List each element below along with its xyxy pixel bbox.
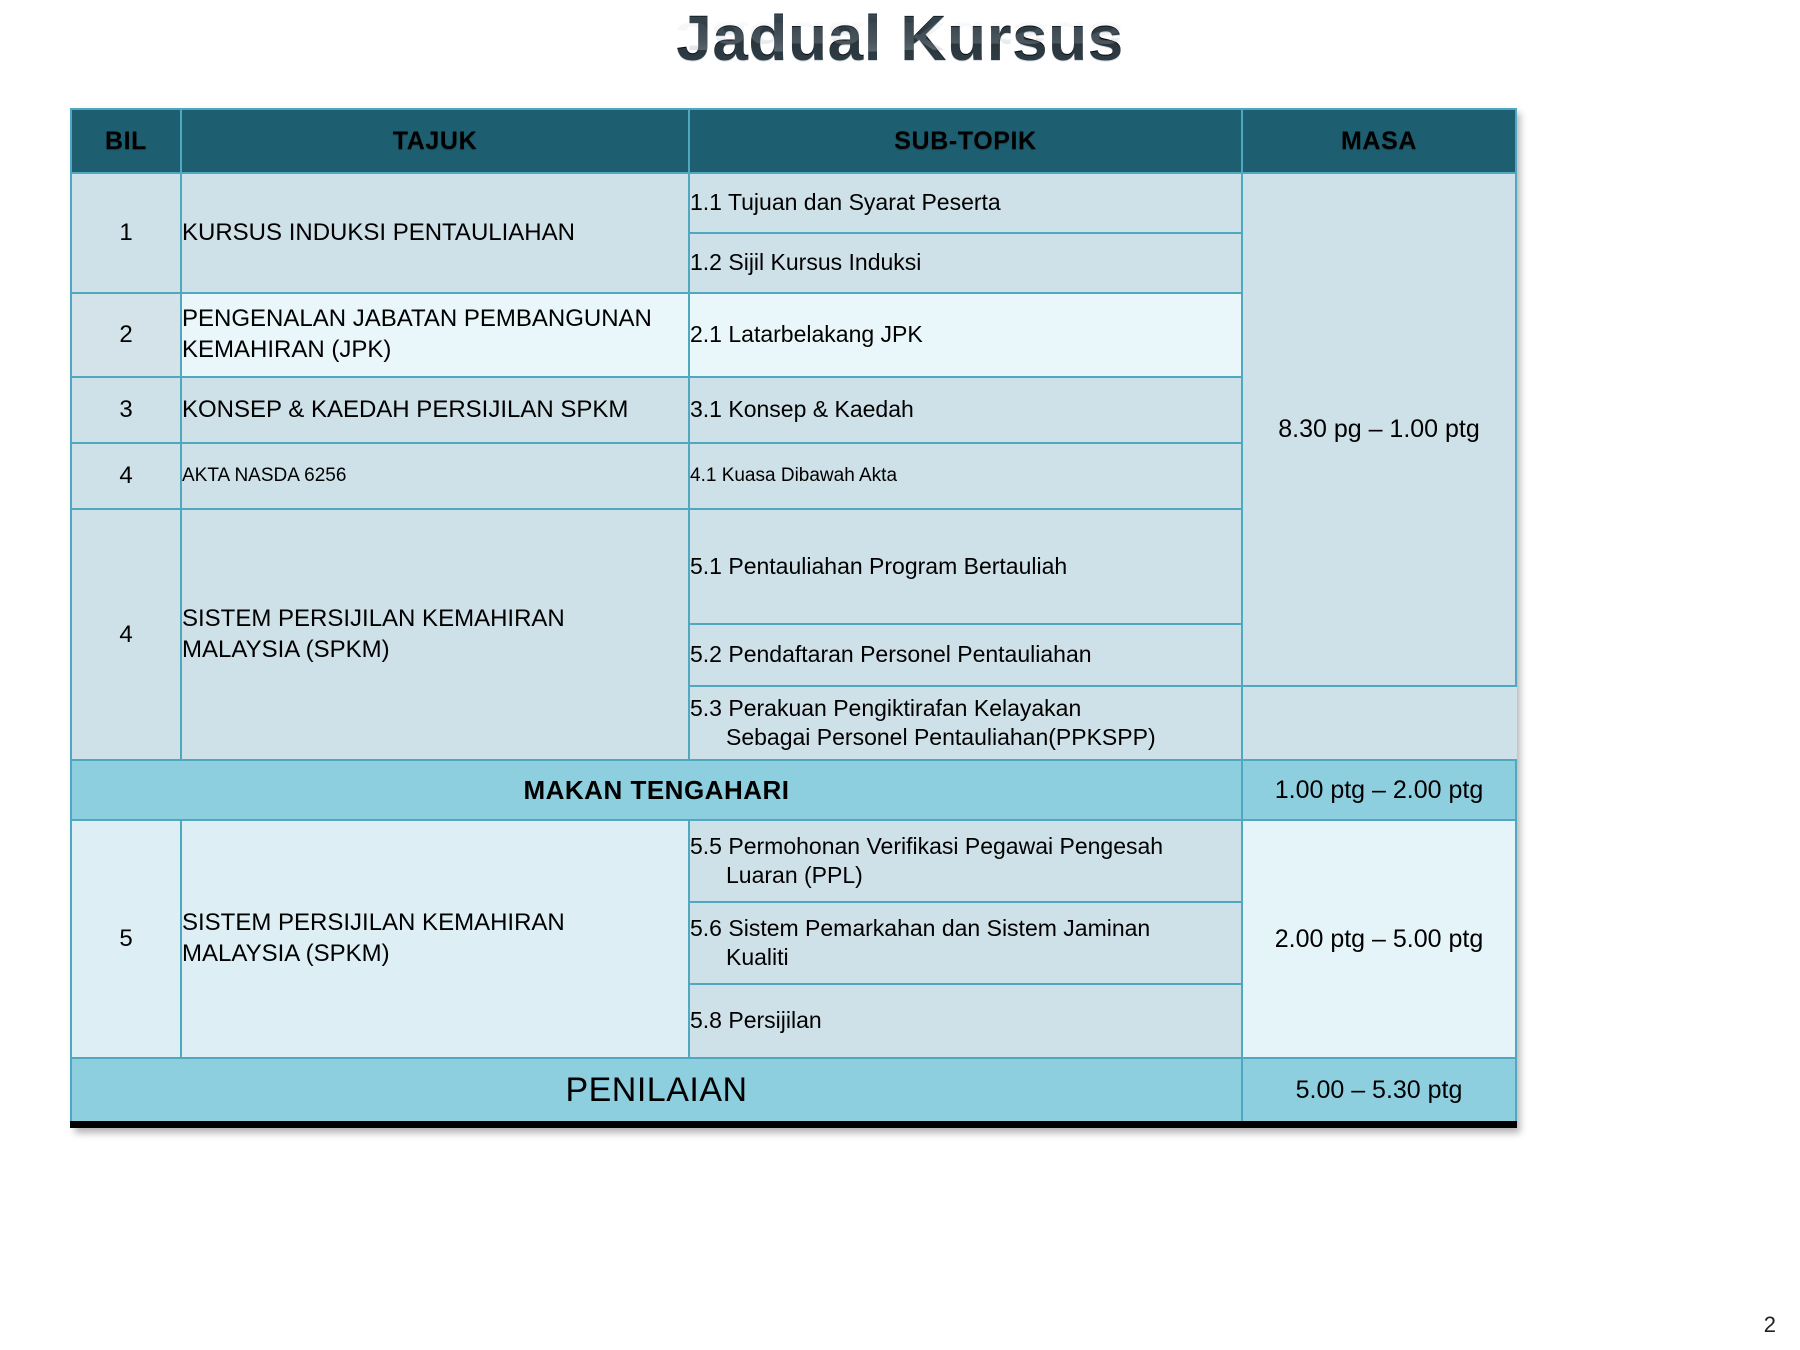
cell-tajuk-5: SISTEM PERSIJILAN KEMAHIRAN MALAYSIA (SP…: [181, 509, 689, 760]
cell-subtopic-5-3: 5.3 Perakuan Pengiktirafan Kelayakan Seb…: [689, 686, 1242, 760]
evaluation-time: 5.00 – 5.30 ptg: [1242, 1058, 1516, 1125]
cell-subtopic-2-1: 2.1 Latarbelakang JPK: [689, 293, 1242, 377]
page-number: 2: [1764, 1312, 1776, 1338]
subtopic-6-1-line-1: 5.5 Permohonan Verifikasi Pegawai Penges…: [690, 833, 1163, 859]
table-header: BIL TAJUK SUB-TOPIK MASA: [71, 109, 1516, 173]
table-row: 5 SISTEM PERSIJILAN KEMAHIRAN MALAYSIA (…: [71, 820, 1516, 902]
subtopic-6-2-line-1: 5.6 Sistem Pemarkahan dan Sistem Jaminan: [690, 915, 1150, 941]
cell-tajuk-4: AKTA NASDA 6256: [181, 443, 689, 509]
course-schedule-table: BIL TAJUK SUB-TOPIK MASA 1 KURSUS INDUKS…: [70, 108, 1517, 1128]
table-row: 1 KURSUS INDUKSI PENTAULIAHAN 1.1 Tujuan…: [71, 173, 1516, 233]
table-body: 1 KURSUS INDUKSI PENTAULIAHAN 1.1 Tujuan…: [71, 173, 1516, 1125]
schedule-table-container: BIL TAJUK SUB-TOPIK MASA 1 KURSUS INDUKS…: [70, 108, 1515, 1128]
cell-subtopic-6-3: 5.8 Persijilan: [689, 984, 1242, 1058]
column-header-masa: MASA: [1242, 109, 1516, 173]
cell-masa-afternoon: 2.00 ptg – 5.00 ptg: [1242, 820, 1516, 1058]
cell-bil-3: 3: [71, 377, 181, 443]
column-header-bil: BIL: [71, 109, 181, 173]
subtopic-6-1-line-2: Luaran (PPL): [690, 861, 1241, 890]
cell-bil-5: 4: [71, 509, 181, 760]
cell-tajuk-3: KONSEP & KAEDAH PERSIJILAN SPKM: [181, 377, 689, 443]
cell-subtopic-1-1: 1.1 Tujuan dan Syarat Peserta: [689, 173, 1242, 233]
subtopic-6-2-line-2: Kualiti: [690, 943, 1241, 972]
column-header-tajuk: TAJUK: [181, 109, 689, 173]
cell-tajuk-1: KURSUS INDUKSI PENTAULIAHAN: [181, 173, 689, 293]
evaluation-label: PENILAIAN: [71, 1058, 1242, 1125]
cell-bil-1: 1: [71, 173, 181, 293]
cell-subtopic-6-2: 5.6 Sistem Pemarkahan dan Sistem Jaminan…: [689, 902, 1242, 984]
cell-bil-2: 2: [71, 293, 181, 377]
subtopic-5-3-line-2: Sebagai Personel Pentauliahan(PPKSPP): [690, 723, 1241, 752]
evaluation-row: PENILAIAN 5.00 – 5.30 ptg: [71, 1058, 1516, 1125]
lunch-break-label: MAKAN TENGAHARI: [71, 760, 1242, 820]
slide-title-block: Jadual Kursus Jadual Kursus: [0, 6, 1800, 120]
cell-tajuk-6: SISTEM PERSIJILAN KEMAHIRAN MALAYSIA (SP…: [181, 820, 689, 1058]
cell-subtopic-1-2: 1.2 Sijil Kursus Induksi: [689, 233, 1242, 293]
cell-subtopic-6-1: 5.5 Permohonan Verifikasi Pegawai Penges…: [689, 820, 1242, 902]
cell-masa-morning: 8.30 pg – 1.00 ptg: [1242, 173, 1516, 686]
cell-subtopic-5-2: 5.2 Pendaftaran Personel Pentauliahan: [689, 624, 1242, 686]
lunch-break-row: MAKAN TENGAHARI 1.00 ptg – 2.00 ptg: [71, 760, 1516, 820]
column-header-subtopik: SUB-TOPIK: [689, 109, 1242, 173]
subtopic-5-3-line-1: 5.3 Perakuan Pengiktirafan Kelayakan: [690, 695, 1081, 721]
table-header-row: BIL TAJUK SUB-TOPIK MASA: [71, 109, 1516, 173]
cell-subtopic-5-1: 5.1 Pentauliahan Program Bertauliah: [689, 509, 1242, 624]
cell-bil-6: 5: [71, 820, 181, 1058]
cell-subtopic-4-1: 4.1 Kuasa Dibawah Akta: [689, 443, 1242, 509]
cell-tajuk-2: PENGENALAN JABATAN PEMBANGUNAN KEMAHIRAN…: [181, 293, 689, 377]
cell-subtopic-3-1: 3.1 Konsep & Kaedah: [689, 377, 1242, 443]
lunch-break-time: 1.00 ptg – 2.00 ptg: [1242, 760, 1516, 820]
cell-bil-4: 4: [71, 443, 181, 509]
page-title-reflection: Jadual Kursus: [0, 16, 1800, 56]
